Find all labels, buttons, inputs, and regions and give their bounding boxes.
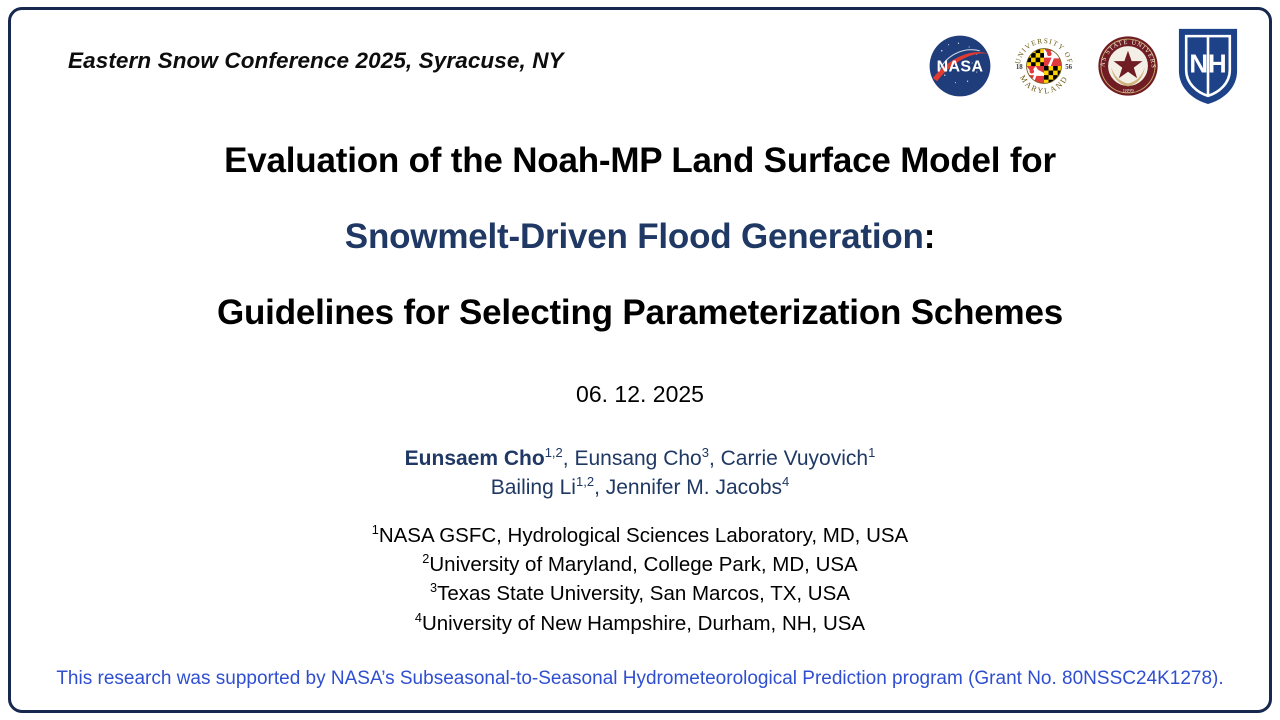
affiliation-text: Texas State University, San Marcos, TX, … [437, 582, 850, 605]
university-of-new-hampshire-logo: NH [1174, 24, 1242, 113]
author-affiliation-marker: 3 [702, 445, 709, 460]
slide-title: Evaluation of the Noah-MP Land Surface M… [0, 143, 1280, 330]
affiliation-item: 2University of Maryland, College Park, M… [0, 550, 1280, 579]
texas-state-university-logo: TEXAS STATE UNIVERSITY 1899 [1090, 28, 1166, 109]
title-line-2: Snowmelt-Driven Flood Generation: [0, 219, 1280, 254]
author-separator: , [563, 447, 575, 470]
author-affiliation-marker: 1,2 [545, 445, 563, 460]
funding-acknowledgment: This research was supported by NASA’s Su… [0, 668, 1280, 690]
title-line-2-colon: : [924, 217, 935, 256]
nasa-logo: NASA [922, 28, 998, 109]
svg-text:18: 18 [1016, 64, 1023, 71]
affiliation-marker: 1 [372, 522, 379, 537]
author-affiliation-marker: 1 [868, 445, 875, 460]
author-affiliation-marker: 4 [782, 474, 789, 489]
affiliation-text: NASA GSFC, Hydrological Sciences Laborat… [379, 524, 908, 547]
affiliation-item: 4University of New Hampshire, Durham, NH… [0, 609, 1280, 638]
affiliation-text: University of Maryland, College Park, MD… [429, 553, 857, 576]
affiliation-text: University of New Hampshire, Durham, NH,… [422, 612, 865, 635]
author-name: Carrie Vuyovich [721, 447, 868, 470]
affiliation-item: 3Texas State University, San Marcos, TX,… [0, 579, 1280, 608]
author-name: Jennifer M. Jacobs [606, 476, 782, 499]
author-name: Eunsang Cho [574, 447, 701, 470]
affiliation-list: 1NASA GSFC, Hydrological Sciences Labora… [0, 521, 1280, 638]
author-list: Eunsaem Cho1,2, Eunsang Cho3, Carrie Vuy… [0, 444, 1280, 502]
author-name: Eunsaem Cho [405, 447, 545, 470]
logo-strip: NASA [922, 24, 1242, 113]
title-slide: Eastern Snow Conference 2025, Syracuse, … [0, 0, 1280, 720]
author-separator: , [594, 476, 606, 499]
author-name: Bailing Li [491, 476, 576, 499]
svg-text:1899: 1899 [1122, 89, 1134, 95]
svg-text:NH: NH [1189, 50, 1226, 78]
conference-header: Eastern Snow Conference 2025, Syracuse, … [68, 48, 564, 74]
title-line-2-accent: Snowmelt-Driven Flood Generation [345, 217, 924, 256]
affiliation-marker: 4 [415, 610, 422, 625]
svg-text:NASA: NASA [937, 58, 984, 75]
presentation-date: 06. 12. 2025 [0, 381, 1280, 408]
author-line-2: Bailing Li1,2, Jennifer M. Jacobs4 [0, 473, 1280, 502]
svg-text:56: 56 [1065, 64, 1072, 71]
author-line-1: Eunsaem Cho1,2, Eunsang Cho3, Carrie Vuy… [0, 444, 1280, 473]
affiliation-item: 1NASA GSFC, Hydrological Sciences Labora… [0, 521, 1280, 550]
title-line-3: Guidelines for Selecting Parameterizatio… [0, 295, 1280, 330]
author-separator: , [709, 447, 721, 470]
university-of-maryland-logo: UNIVERSITY OF MARYLAND 18 56 [1006, 28, 1082, 109]
title-line-1: Evaluation of the Noah-MP Land Surface M… [0, 143, 1280, 178]
author-affiliation-marker: 1,2 [576, 474, 594, 489]
